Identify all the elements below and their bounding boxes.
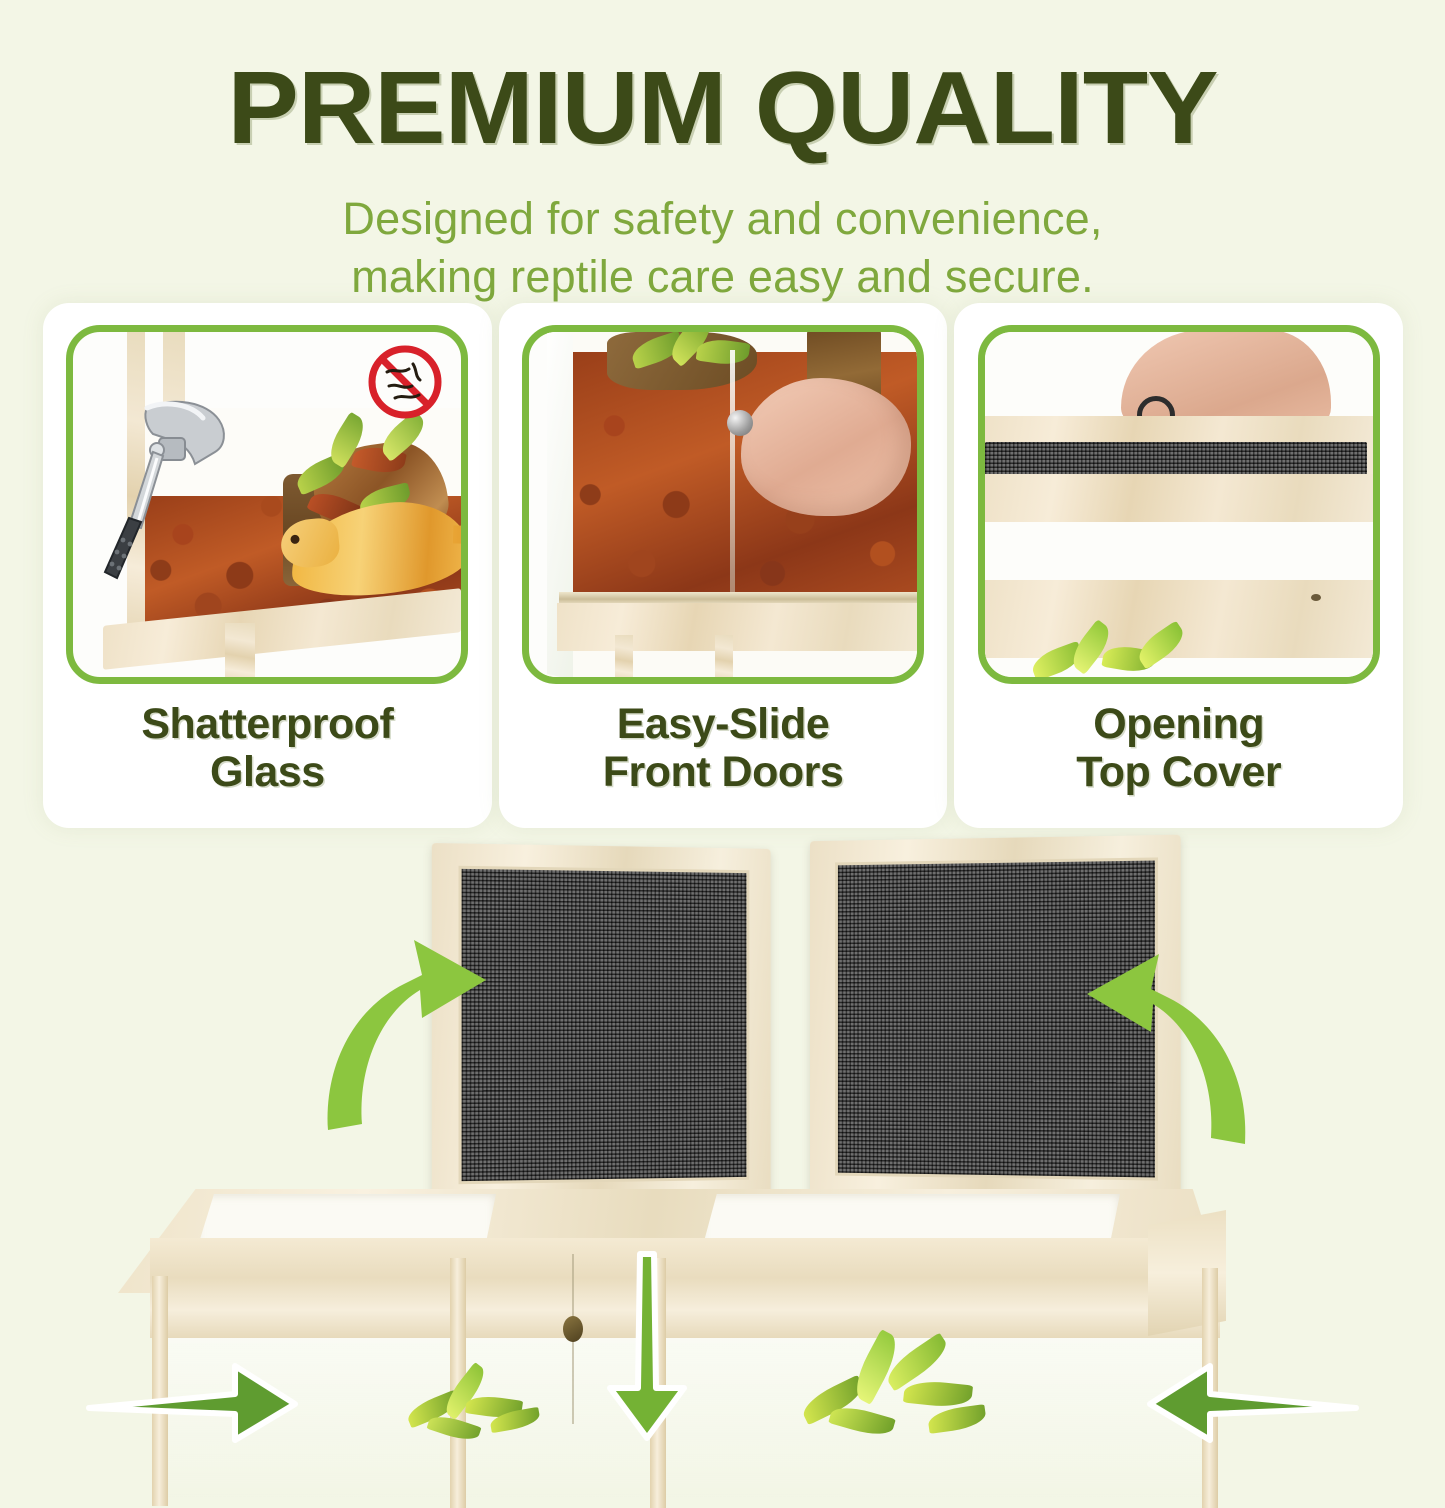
infographic-canvas: PREMIUM QUALITY Designed for safety and … — [0, 0, 1445, 1445]
feature-photo-easy-slide-front-doors — [522, 325, 924, 684]
hammer-icon — [103, 394, 253, 584]
sliding-door-edge — [730, 350, 735, 600]
feature-card-shatterproof-glass: Shatterproof Glass — [43, 303, 492, 828]
latch-bead-icon — [563, 1316, 583, 1342]
terrarium-front-rim — [557, 603, 917, 651]
no-crack-icon — [365, 342, 445, 422]
feature-label-opening-top-cover: Opening Top Cover — [1076, 700, 1281, 796]
artificial-plant-left — [400, 1375, 550, 1447]
feature-label-shatterproof-glass: Shatterproof Glass — [141, 700, 393, 796]
arrow-straight-left — [85, 1358, 300, 1446]
arrow-curved-right — [1040, 930, 1255, 1162]
feature-photo-opening-top-cover — [978, 325, 1380, 684]
artificial-plant-decor — [1031, 631, 1191, 684]
terrarium-interior — [547, 332, 917, 677]
terrarium-leg — [615, 635, 633, 681]
bearded-dragon-eye — [290, 534, 300, 544]
sliding-door-knob-icon — [727, 410, 753, 436]
feature-photo-shatterproof-glass — [66, 325, 468, 684]
feature-label-line-1: Opening — [1076, 700, 1281, 748]
feature-label-easy-slide-front-doors: Easy-Slide Front Doors — [603, 700, 844, 796]
feature-label-line-1: Shatterproof — [141, 700, 393, 748]
arrow-curved-left — [318, 918, 528, 1148]
feature-label-line-2: Top Cover — [1076, 748, 1281, 796]
screw-icon — [1311, 594, 1321, 601]
terrarium-top-rail — [985, 474, 1373, 522]
page-subtitle: Designed for safety and convenience, mak… — [0, 190, 1445, 305]
feature-card-easy-slide-front-doors: Easy-Slide Front Doors — [499, 303, 948, 828]
artificial-plant-right — [800, 1348, 990, 1446]
subtitle-line-2: making reptile care easy and secure. — [0, 248, 1445, 306]
feature-card-opening-top-cover: Opening Top Cover — [954, 303, 1403, 828]
arrow-straight-center — [588, 1248, 706, 1444]
subtitle-line-1: Designed for safety and convenience, — [0, 190, 1445, 248]
mesh-screen-strip — [985, 442, 1367, 476]
terrarium-leg — [225, 623, 255, 683]
feature-label-line-1: Easy-Slide — [603, 700, 844, 748]
feature-label-line-2: Glass — [141, 748, 393, 796]
feature-label-line-2: Front Doors — [603, 748, 844, 796]
feature-card-row: Shatterproof Glass — [43, 303, 1403, 828]
arrow-straight-right — [1145, 1358, 1360, 1446]
page-title: PREMIUM QUALITY — [0, 56, 1445, 159]
hand — [741, 378, 911, 516]
terrarium-leg — [715, 635, 733, 681]
